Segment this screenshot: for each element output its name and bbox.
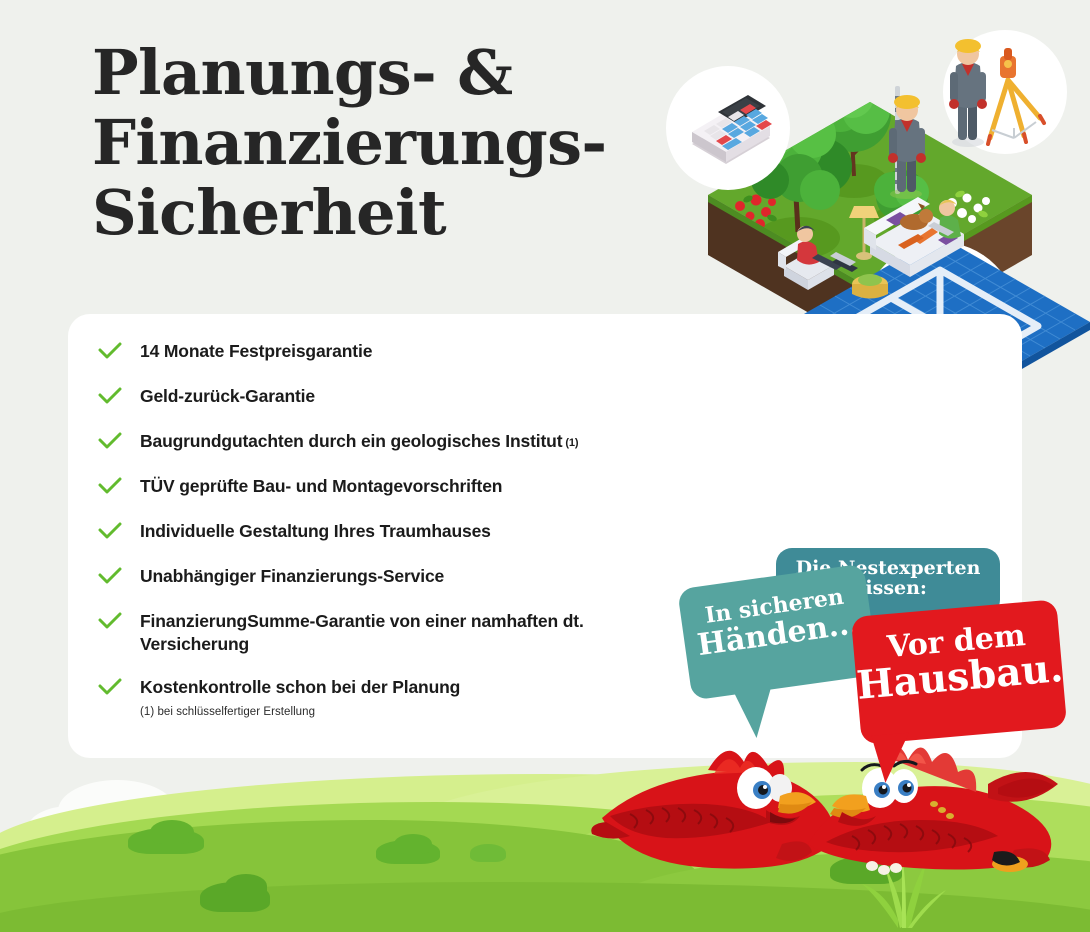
list-item-label: Individuelle Gestaltung Ihres Traumhause… xyxy=(140,519,491,543)
footnote-marker: (1) xyxy=(565,437,578,449)
list-item-label: Geld-zurück-Garantie xyxy=(140,384,315,408)
list-item: Baugrundgutachten durch ein geologisches… xyxy=(98,429,858,466)
check-icon xyxy=(98,609,140,635)
bush-icon xyxy=(150,820,194,844)
birds-illustration xyxy=(590,726,1090,896)
red-bird-left xyxy=(591,751,833,869)
red-bird-right xyxy=(808,745,1058,875)
infographic-canvas: Planungs- & Finanzierungs- Sicherheit xyxy=(0,0,1090,932)
list-item-label: Unabhängiger Finanzierungs-Service xyxy=(140,564,444,588)
list-item: Geld-zurück-Garantie xyxy=(98,384,858,421)
check-icon xyxy=(98,384,140,410)
list-item-label: TÜV geprüfte Bau- und Montagevorschrifte… xyxy=(140,474,502,498)
speech-tail-icon xyxy=(725,680,792,744)
check-icon xyxy=(98,519,140,545)
list-item: TÜV geprüfte Bau- und Montagevorschrifte… xyxy=(98,474,858,511)
speech-tail-icon xyxy=(867,731,932,792)
page-title: Planungs- & Finanzierungs- Sicherheit xyxy=(92,38,692,248)
list-item-label: Baugrundgutachten durch ein geologisches… xyxy=(140,429,578,453)
list-item-label: Kostenkontrolle schon bei der Planung xyxy=(140,675,460,699)
check-icon xyxy=(98,339,140,365)
bush-icon xyxy=(225,874,267,898)
speech-bubble-right: Vor dem Hausbau. xyxy=(851,599,1067,744)
bush-icon xyxy=(394,834,432,854)
footnote-text: (1) bei schlüsselfertiger Erstellung xyxy=(140,706,315,718)
list-item-label: FinanzierungSumme-Garantie von einer nam… xyxy=(140,609,640,657)
bush-icon xyxy=(470,844,506,862)
list-item-label: 14 Monate Festpreisgarantie xyxy=(140,339,372,363)
check-icon xyxy=(98,474,140,500)
check-icon xyxy=(98,675,140,701)
check-icon xyxy=(98,564,140,590)
list-item: Individuelle Gestaltung Ihres Traumhause… xyxy=(98,519,858,556)
check-icon xyxy=(98,429,140,455)
list-item: 14 Monate Festpreisgarantie xyxy=(98,339,858,376)
